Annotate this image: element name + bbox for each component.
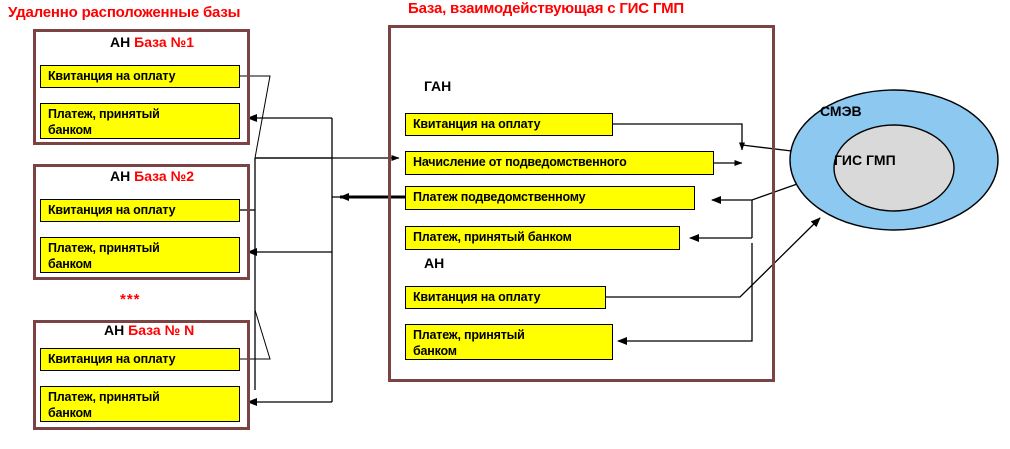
box-gan-payment-to-subordinate[interactable]: Платеж подведомственному — [405, 186, 695, 210]
smev-label: СМЭВ — [820, 103, 862, 119]
box-gan-bank-payment[interactable]: Платеж, принятый банком — [405, 226, 680, 250]
left-section-header: Удаленно расположенные базы — [8, 4, 240, 21]
panel-prefix-n: АН — [104, 322, 124, 338]
left-bus-wires — [240, 76, 405, 402]
right-section-header: База, взаимодействующая с ГИС ГМП — [408, 0, 684, 17]
group-label-an: АН — [424, 255, 444, 271]
box-an-bank-payment[interactable]: Платеж, принятый банком — [405, 324, 613, 360]
panel-name-2: База №2 — [134, 168, 194, 184]
box-receipt-basen[interactable]: Квитанция на оплату — [40, 348, 240, 371]
box-receipt-base1[interactable]: Квитанция на оплату — [40, 65, 240, 88]
panel-name-n: База № N — [128, 322, 194, 338]
gis-gmp-label: ГИС ГМП — [834, 152, 896, 168]
ellipsis-marker: *** — [120, 291, 141, 308]
panel-title-n: АН База № N — [104, 322, 194, 338]
box-an-receipt[interactable]: Квитанция на оплату — [405, 286, 606, 309]
box-bank-payment-base1[interactable]: Платеж, принятый банком — [40, 103, 240, 139]
panel-prefix-1: АН — [110, 34, 130, 50]
box-bank-payment-basen[interactable]: Платеж, принятый банком — [40, 386, 240, 422]
box-gan-charge-from-subordinate[interactable]: Начисление от подведомственного — [405, 151, 714, 175]
gis-gmp-inner-ellipse[interactable] — [834, 125, 954, 211]
box-receipt-base2[interactable]: Квитанция на оплату — [40, 199, 240, 222]
panel-name-1: База №1 — [134, 34, 194, 50]
diagram-canvas: Удаленно расположенные базы База, взаимо… — [0, 0, 1010, 449]
box-bank-payment-base2[interactable]: Платеж, принятый банком — [40, 237, 240, 273]
box-gan-receipt[interactable]: Квитанция на оплату — [405, 113, 613, 136]
panel-title-1: АН База №1 — [110, 34, 194, 50]
panel-title-2: АН База №2 — [110, 168, 194, 184]
group-label-gan: ГАН — [424, 78, 451, 94]
panel-prefix-2: АН — [110, 168, 130, 184]
